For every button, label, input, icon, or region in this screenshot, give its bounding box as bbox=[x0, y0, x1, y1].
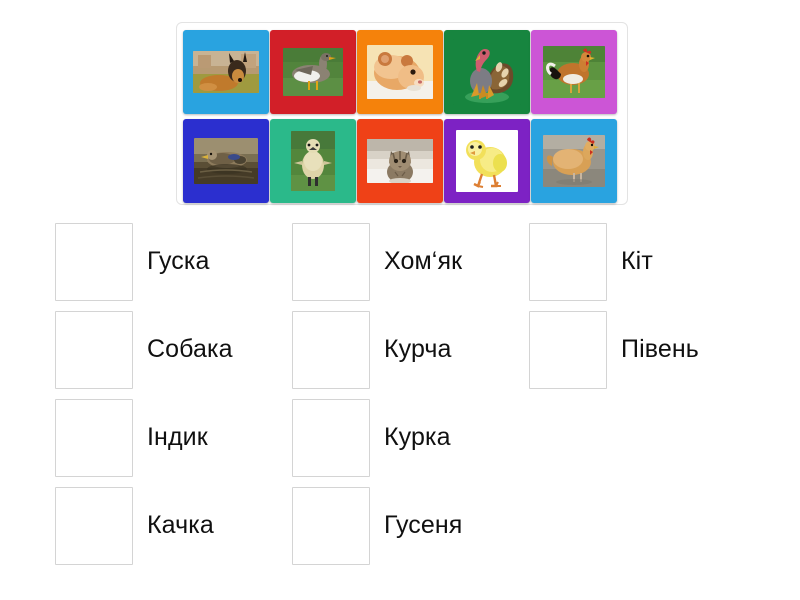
image-bank-panel bbox=[176, 22, 628, 205]
answer-piven-label: Півень bbox=[621, 336, 699, 364]
cat-photo bbox=[367, 139, 433, 183]
answer-indyk-label: Індик bbox=[147, 424, 208, 452]
answer-guska-drop-slot[interactable] bbox=[55, 223, 133, 301]
answer-guska-label: Гуска bbox=[147, 248, 209, 276]
dog-photo bbox=[193, 51, 259, 93]
image-bank-row bbox=[183, 30, 621, 114]
tile-turkey[interactable] bbox=[444, 30, 530, 114]
tile-rooster[interactable] bbox=[531, 30, 617, 114]
answer-column-3: КітПівень bbox=[529, 218, 764, 394]
tile-dog[interactable] bbox=[183, 30, 269, 114]
answer-row: Кіт bbox=[529, 218, 764, 306]
answer-kurka-label: Курка bbox=[384, 424, 451, 452]
answer-row: Качка bbox=[55, 482, 290, 570]
answer-indyk-drop-slot[interactable] bbox=[55, 399, 133, 477]
tile-goose[interactable] bbox=[270, 30, 356, 114]
answer-row: Півень bbox=[529, 306, 764, 394]
goose-photo bbox=[283, 48, 343, 96]
rooster-photo bbox=[543, 46, 605, 98]
answer-khomyak-drop-slot[interactable] bbox=[292, 223, 370, 301]
answer-row: Гуска bbox=[55, 218, 290, 306]
answer-row: Індик bbox=[55, 394, 290, 482]
answer-kit-drop-slot[interactable] bbox=[529, 223, 607, 301]
answer-sobaka-label: Собака bbox=[147, 336, 233, 364]
answer-sobaka-drop-slot[interactable] bbox=[55, 311, 133, 389]
answer-row: Собака bbox=[55, 306, 290, 394]
answer-kachka-drop-slot[interactable] bbox=[55, 487, 133, 565]
tile-hen[interactable] bbox=[531, 119, 617, 203]
hamster-photo bbox=[367, 45, 433, 99]
answer-khomyak-label: Хом‘як bbox=[384, 248, 462, 276]
answer-row: Курча bbox=[292, 306, 527, 394]
answer-husenya-label: Гусеня bbox=[384, 512, 462, 540]
turkey-photo bbox=[453, 39, 521, 105]
answer-kurka-drop-slot[interactable] bbox=[292, 399, 370, 477]
answer-row: Хом‘як bbox=[292, 218, 527, 306]
answer-column-1: ГускаСобакаІндикКачка bbox=[55, 218, 290, 570]
answer-kurcha-label: Курча bbox=[384, 336, 452, 364]
hen-photo bbox=[543, 135, 605, 187]
answer-kachka-label: Качка bbox=[147, 512, 214, 540]
tile-chick[interactable] bbox=[444, 119, 530, 203]
answer-kurcha-drop-slot[interactable] bbox=[292, 311, 370, 389]
answer-row: Курка bbox=[292, 394, 527, 482]
duck-photo bbox=[194, 138, 258, 184]
answer-row: Гусеня bbox=[292, 482, 527, 570]
answer-piven-drop-slot[interactable] bbox=[529, 311, 607, 389]
tile-hamster[interactable] bbox=[357, 30, 443, 114]
answer-kit-label: Кіт bbox=[621, 248, 653, 276]
image-bank-row bbox=[183, 119, 621, 203]
tile-gosling[interactable] bbox=[270, 119, 356, 203]
chick-photo bbox=[456, 130, 518, 192]
tile-cat[interactable] bbox=[357, 119, 443, 203]
answer-husenya-drop-slot[interactable] bbox=[292, 487, 370, 565]
answer-column-2: Хом‘якКурчаКуркаГусеня bbox=[292, 218, 527, 570]
tile-duck[interactable] bbox=[183, 119, 269, 203]
gosling-photo bbox=[291, 131, 335, 191]
